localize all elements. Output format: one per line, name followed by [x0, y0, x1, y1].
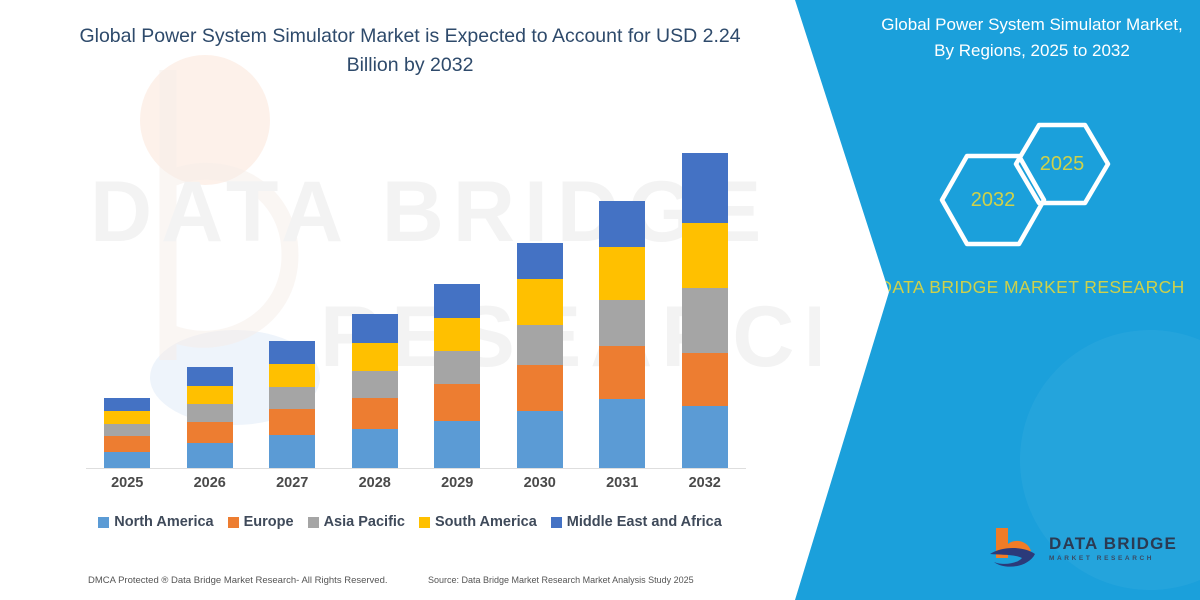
hexagon-label-2032: 2032 [971, 189, 1016, 212]
bar-group-2025 [104, 398, 150, 469]
legend-label: Europe [244, 514, 294, 530]
chart-footer: DMCA Protected ® Data Bridge Market Rese… [0, 568, 800, 592]
data-bridge-logo: DATA BRIDGE MARKET RESEARCH [988, 524, 1177, 574]
footer-source: Source: Data Bridge Market Research Mark… [428, 575, 694, 585]
side-panel-brand: DATA BRIDGE MARKET RESEARCH [872, 274, 1192, 301]
bar-segment [269, 364, 315, 387]
legend-label: North America [114, 514, 213, 530]
bar-segment [104, 436, 150, 452]
x-axis-label: 2026 [175, 475, 245, 491]
data-bridge-logo-icon [988, 524, 1040, 574]
bar-segment [352, 398, 398, 429]
legend-label: Middle East and Africa [567, 514, 722, 530]
bar-group-2030 [517, 243, 563, 469]
chart-legend: North AmericaEuropeAsia PacificSouth Ame… [0, 514, 820, 530]
chart-plot-area [86, 120, 746, 469]
bar-group-2032 [682, 153, 728, 469]
chart-title: Global Power System Simulator Market is … [60, 22, 760, 81]
bar-segment [682, 406, 728, 469]
x-axis-label: 2025 [92, 475, 162, 491]
bar-segment [434, 284, 480, 318]
bar-segment [517, 279, 563, 325]
legend-swatch-icon [98, 517, 109, 528]
bar-segment [104, 424, 150, 436]
bar-segment [352, 343, 398, 371]
bar-segment [434, 351, 480, 384]
bar-segment [187, 422, 233, 443]
bar-group-2031 [599, 201, 645, 469]
bar-segment [599, 346, 645, 399]
bar-segment [187, 443, 233, 469]
x-axis-label: 2030 [505, 475, 575, 491]
x-axis-label: 2031 [587, 475, 657, 491]
bar-segment [104, 411, 150, 424]
bar-segment [104, 398, 150, 411]
legend-swatch-icon [228, 517, 239, 528]
bar-segment [269, 409, 315, 435]
bar-segment [352, 314, 398, 343]
bar-segment [599, 247, 645, 300]
hexagon-label-2025: 2025 [1040, 153, 1085, 176]
bar-segment [517, 411, 563, 469]
side-panel-title: Global Power System Simulator Market, By… [872, 12, 1192, 65]
bar-segment [517, 365, 563, 411]
legend-item[interactable]: Middle East and Africa [551, 514, 722, 530]
bar-segment [187, 367, 233, 386]
legend-item[interactable]: South America [419, 514, 537, 530]
legend-swatch-icon [419, 517, 430, 528]
bar-segment [434, 421, 480, 469]
bar-segment [599, 201, 645, 247]
bar-segment [434, 384, 480, 421]
bar-group-2029 [434, 284, 480, 469]
bar-segment [104, 452, 150, 469]
x-axis-label: 2028 [340, 475, 410, 491]
x-axis-label: 2027 [257, 475, 327, 491]
legend-item[interactable]: Europe [228, 514, 294, 530]
bar-segment [517, 325, 563, 365]
bar-segment [352, 429, 398, 469]
legend-item[interactable]: North America [98, 514, 213, 530]
bar-group-2027 [269, 341, 315, 469]
chart-x-axis: 20252026202720282029203020312032 [86, 475, 746, 497]
bar-segment [434, 318, 480, 351]
bar-segment [682, 153, 728, 223]
chart-panel: DATA BRIDGE RESEARCH Global Power System… [0, 0, 820, 600]
legend-item[interactable]: Asia Pacific [308, 514, 405, 530]
bar-group-2028 [352, 314, 398, 469]
legend-label: South America [435, 514, 537, 530]
bar-segment [187, 404, 233, 422]
x-axis-label: 2032 [670, 475, 740, 491]
bar-segment [187, 386, 233, 404]
chart-baseline [86, 468, 746, 469]
bar-segment [269, 435, 315, 469]
logo-title: DATA BRIDGE [1049, 535, 1177, 552]
footer-copyright: DMCA Protected ® Data Bridge Market Rese… [88, 575, 388, 586]
bar-segment [599, 300, 645, 346]
legend-label: Asia Pacific [324, 514, 405, 530]
x-axis-label: 2029 [422, 475, 492, 491]
bar-segment [352, 371, 398, 398]
legend-swatch-icon [551, 517, 562, 528]
bar-segment [682, 288, 728, 353]
hexagon-badge-2025: 2025 [1012, 119, 1112, 209]
legend-swatch-icon [308, 517, 319, 528]
bar-segment [269, 387, 315, 409]
logo-subtitle: MARKET RESEARCH [1049, 556, 1177, 563]
data-bridge-logo-text: DATA BRIDGE MARKET RESEARCH [1049, 535, 1177, 563]
bar-segment [269, 341, 315, 364]
bar-segment [682, 353, 728, 406]
bar-segment [682, 223, 728, 288]
bar-group-2026 [187, 367, 233, 469]
bar-segment [517, 243, 563, 279]
bar-segment [599, 399, 645, 469]
